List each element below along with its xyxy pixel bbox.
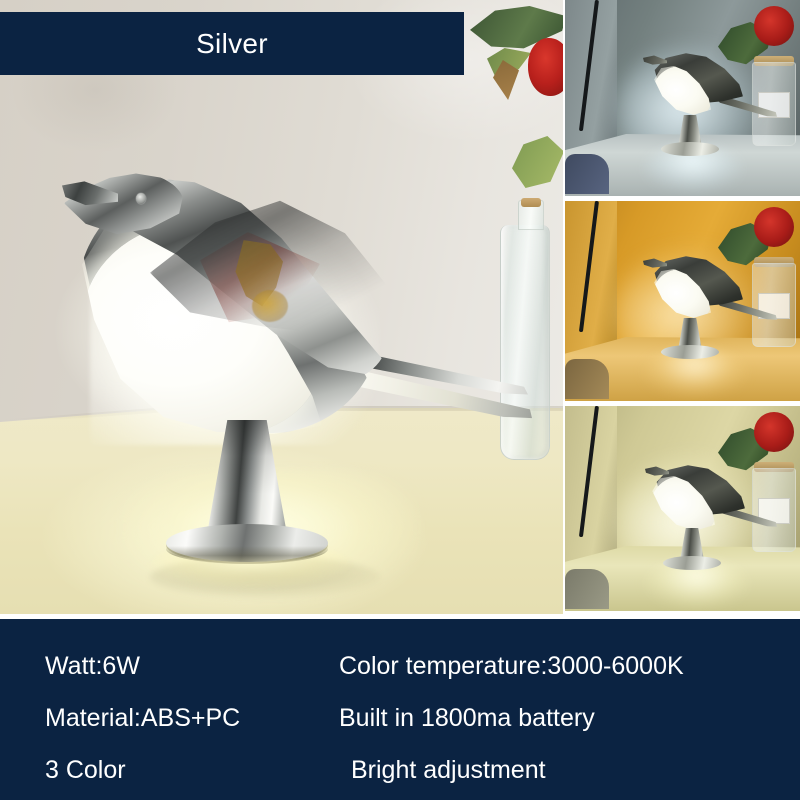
spec-color-temperature: Color temperature:3000-6000K <box>339 652 684 681</box>
lamp-base-rim <box>166 534 328 564</box>
hero-product-photo: Silver <box>0 0 563 614</box>
lamp-base-disc <box>663 556 721 570</box>
thumb-pillow <box>565 359 609 399</box>
spec-row: 3 Color Bright adjustment <box>0 745 800 795</box>
rose-flower <box>754 412 794 452</box>
spec-brightness: Bright adjustment <box>351 756 546 785</box>
color-variant-label: Silver <box>196 30 268 58</box>
color-variant-banner: Silver <box>0 12 464 75</box>
thumbnail-column <box>565 0 800 614</box>
rose-flower <box>754 6 794 46</box>
spec-battery: Built in 1800ma battery <box>339 704 595 733</box>
thumbnail-warm-amber[interactable] <box>565 201 800 401</box>
spec-row: Material:ABS+PC Built in 1800ma battery <box>0 693 800 743</box>
spec-row: Watt:6W Color temperature:3000-6000K <box>0 641 800 691</box>
lamp-base-disc <box>661 142 719 156</box>
specification-panel: Watt:6W Color temperature:3000-6000K Mat… <box>0 619 800 800</box>
bird-lamp <box>0 0 563 614</box>
thumbnail-cool-white[interactable] <box>565 0 800 196</box>
spec-material: Material:ABS+PC <box>45 704 240 733</box>
spec-watt: Watt:6W <box>45 652 140 681</box>
thumbnail-neutral-white[interactable] <box>565 406 800 611</box>
product-image-composite: Silver <box>0 0 800 800</box>
bird-eye <box>136 193 146 204</box>
thumb-pillow <box>565 569 609 609</box>
lamp-base-disc <box>661 345 719 359</box>
thumb-pillow <box>565 154 609 194</box>
spec-color-count: 3 Color <box>45 756 126 785</box>
rose-flower <box>754 207 794 247</box>
